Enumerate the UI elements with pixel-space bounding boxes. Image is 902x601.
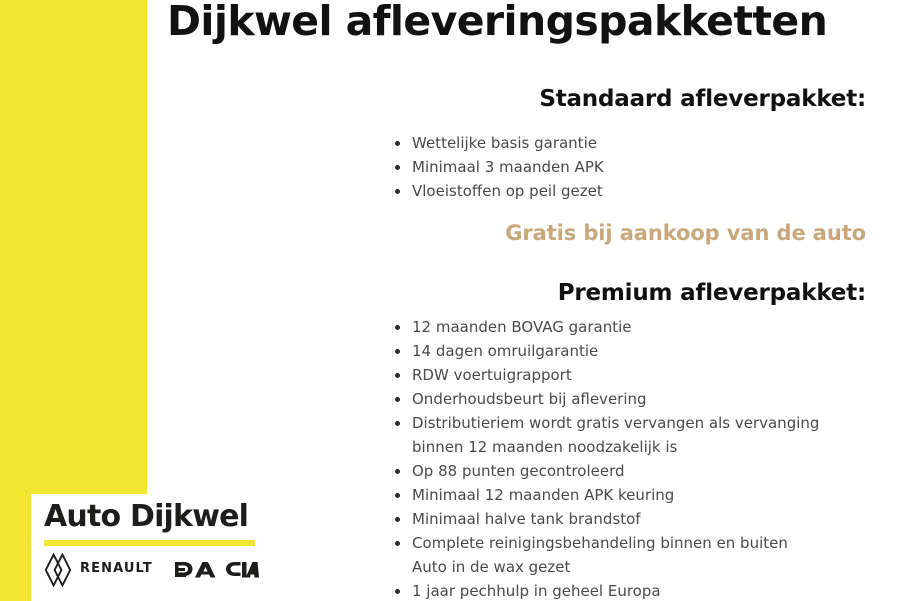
list-item: Wettelijke basis garantie	[395, 131, 865, 155]
list-item-label: 1 jaar pechhulp in geheel Europa	[412, 582, 661, 600]
list-item-label: Complete reinigingsbehandeling binnen en…	[412, 534, 788, 552]
poster-canvas: Dijkwel afleveringspakketten Standaard a…	[0, 0, 902, 601]
list-item-label: Onderhoudsbeurt bij aflevering	[412, 390, 647, 408]
list-item: Distributieriem wordt gratis vervangen a…	[395, 411, 865, 459]
list-item: Onderhoudsbeurt bij aflevering	[395, 387, 865, 411]
list-item-label: 12 maanden BOVAG garantie	[412, 318, 632, 336]
list-item-label: Minimaal halve tank brandstof	[412, 510, 641, 528]
list-item-label: Minimaal 12 maanden APK keuring	[412, 486, 674, 504]
list-item: Vloeistoffen op peil gezet	[395, 179, 865, 203]
list-item-label: RDW voertuigrapport	[412, 366, 572, 384]
list-item: RDW voertuigrapport	[395, 363, 865, 387]
list-item: Minimaal 3 maanden APK	[395, 155, 865, 179]
list-item-label: 14 dagen omruilgarantie	[412, 342, 598, 360]
standard-package-list: Wettelijke basis garantie Minimaal 3 maa…	[395, 131, 865, 203]
list-item: Complete reinigingsbehandeling binnen en…	[395, 531, 865, 579]
list-item: Minimaal halve tank brandstof	[395, 507, 865, 531]
renault-diamond-icon	[44, 553, 72, 587]
free-with-purchase-tagline: Gratis bij aankoop van de auto	[505, 219, 866, 247]
list-item-label: Op 88 punten gecontroleerd	[412, 462, 625, 480]
list-item-label: Wettelijke basis garantie	[412, 134, 597, 152]
list-item: Op 88 punten gecontroleerd	[395, 459, 865, 483]
logo-divider-rule	[44, 540, 255, 546]
premium-package-heading: Premium afleverpakket:	[558, 278, 866, 308]
dealer-wordmark: Auto Dijkwel	[44, 498, 248, 536]
premium-package-list: 12 maanden BOVAG garantie 14 dagen omrui…	[395, 315, 865, 601]
dacia-wordmark	[175, 560, 259, 578]
list-item-continuation: binnen 12 maanden noodzakelijk is	[412, 435, 865, 459]
standard-package-heading: Standaard afleverpakket:	[539, 84, 866, 114]
dealer-logo-card: Auto Dijkwel RENAULT	[31, 494, 266, 601]
list-item-label: Minimaal 3 maanden APK	[412, 158, 604, 176]
list-item: Minimaal 12 maanden APK keuring	[395, 483, 865, 507]
renault-wordmark: RENAULT	[80, 561, 153, 576]
list-item-continuation: Auto in de wax gezet	[412, 555, 865, 579]
list-item-label: Vloeistoffen op peil gezet	[412, 182, 603, 200]
list-item: 1 jaar pechhulp in geheel Europa	[395, 579, 865, 601]
page-title: Dijkwel afleveringspakketten	[167, 0, 867, 48]
list-item-label: Distributieriem wordt gratis vervangen a…	[412, 414, 819, 432]
list-item: 12 maanden BOVAG garantie	[395, 315, 865, 339]
list-item: 14 dagen omruilgarantie	[395, 339, 865, 363]
brand-logos-row: RENAULT	[44, 551, 259, 591]
